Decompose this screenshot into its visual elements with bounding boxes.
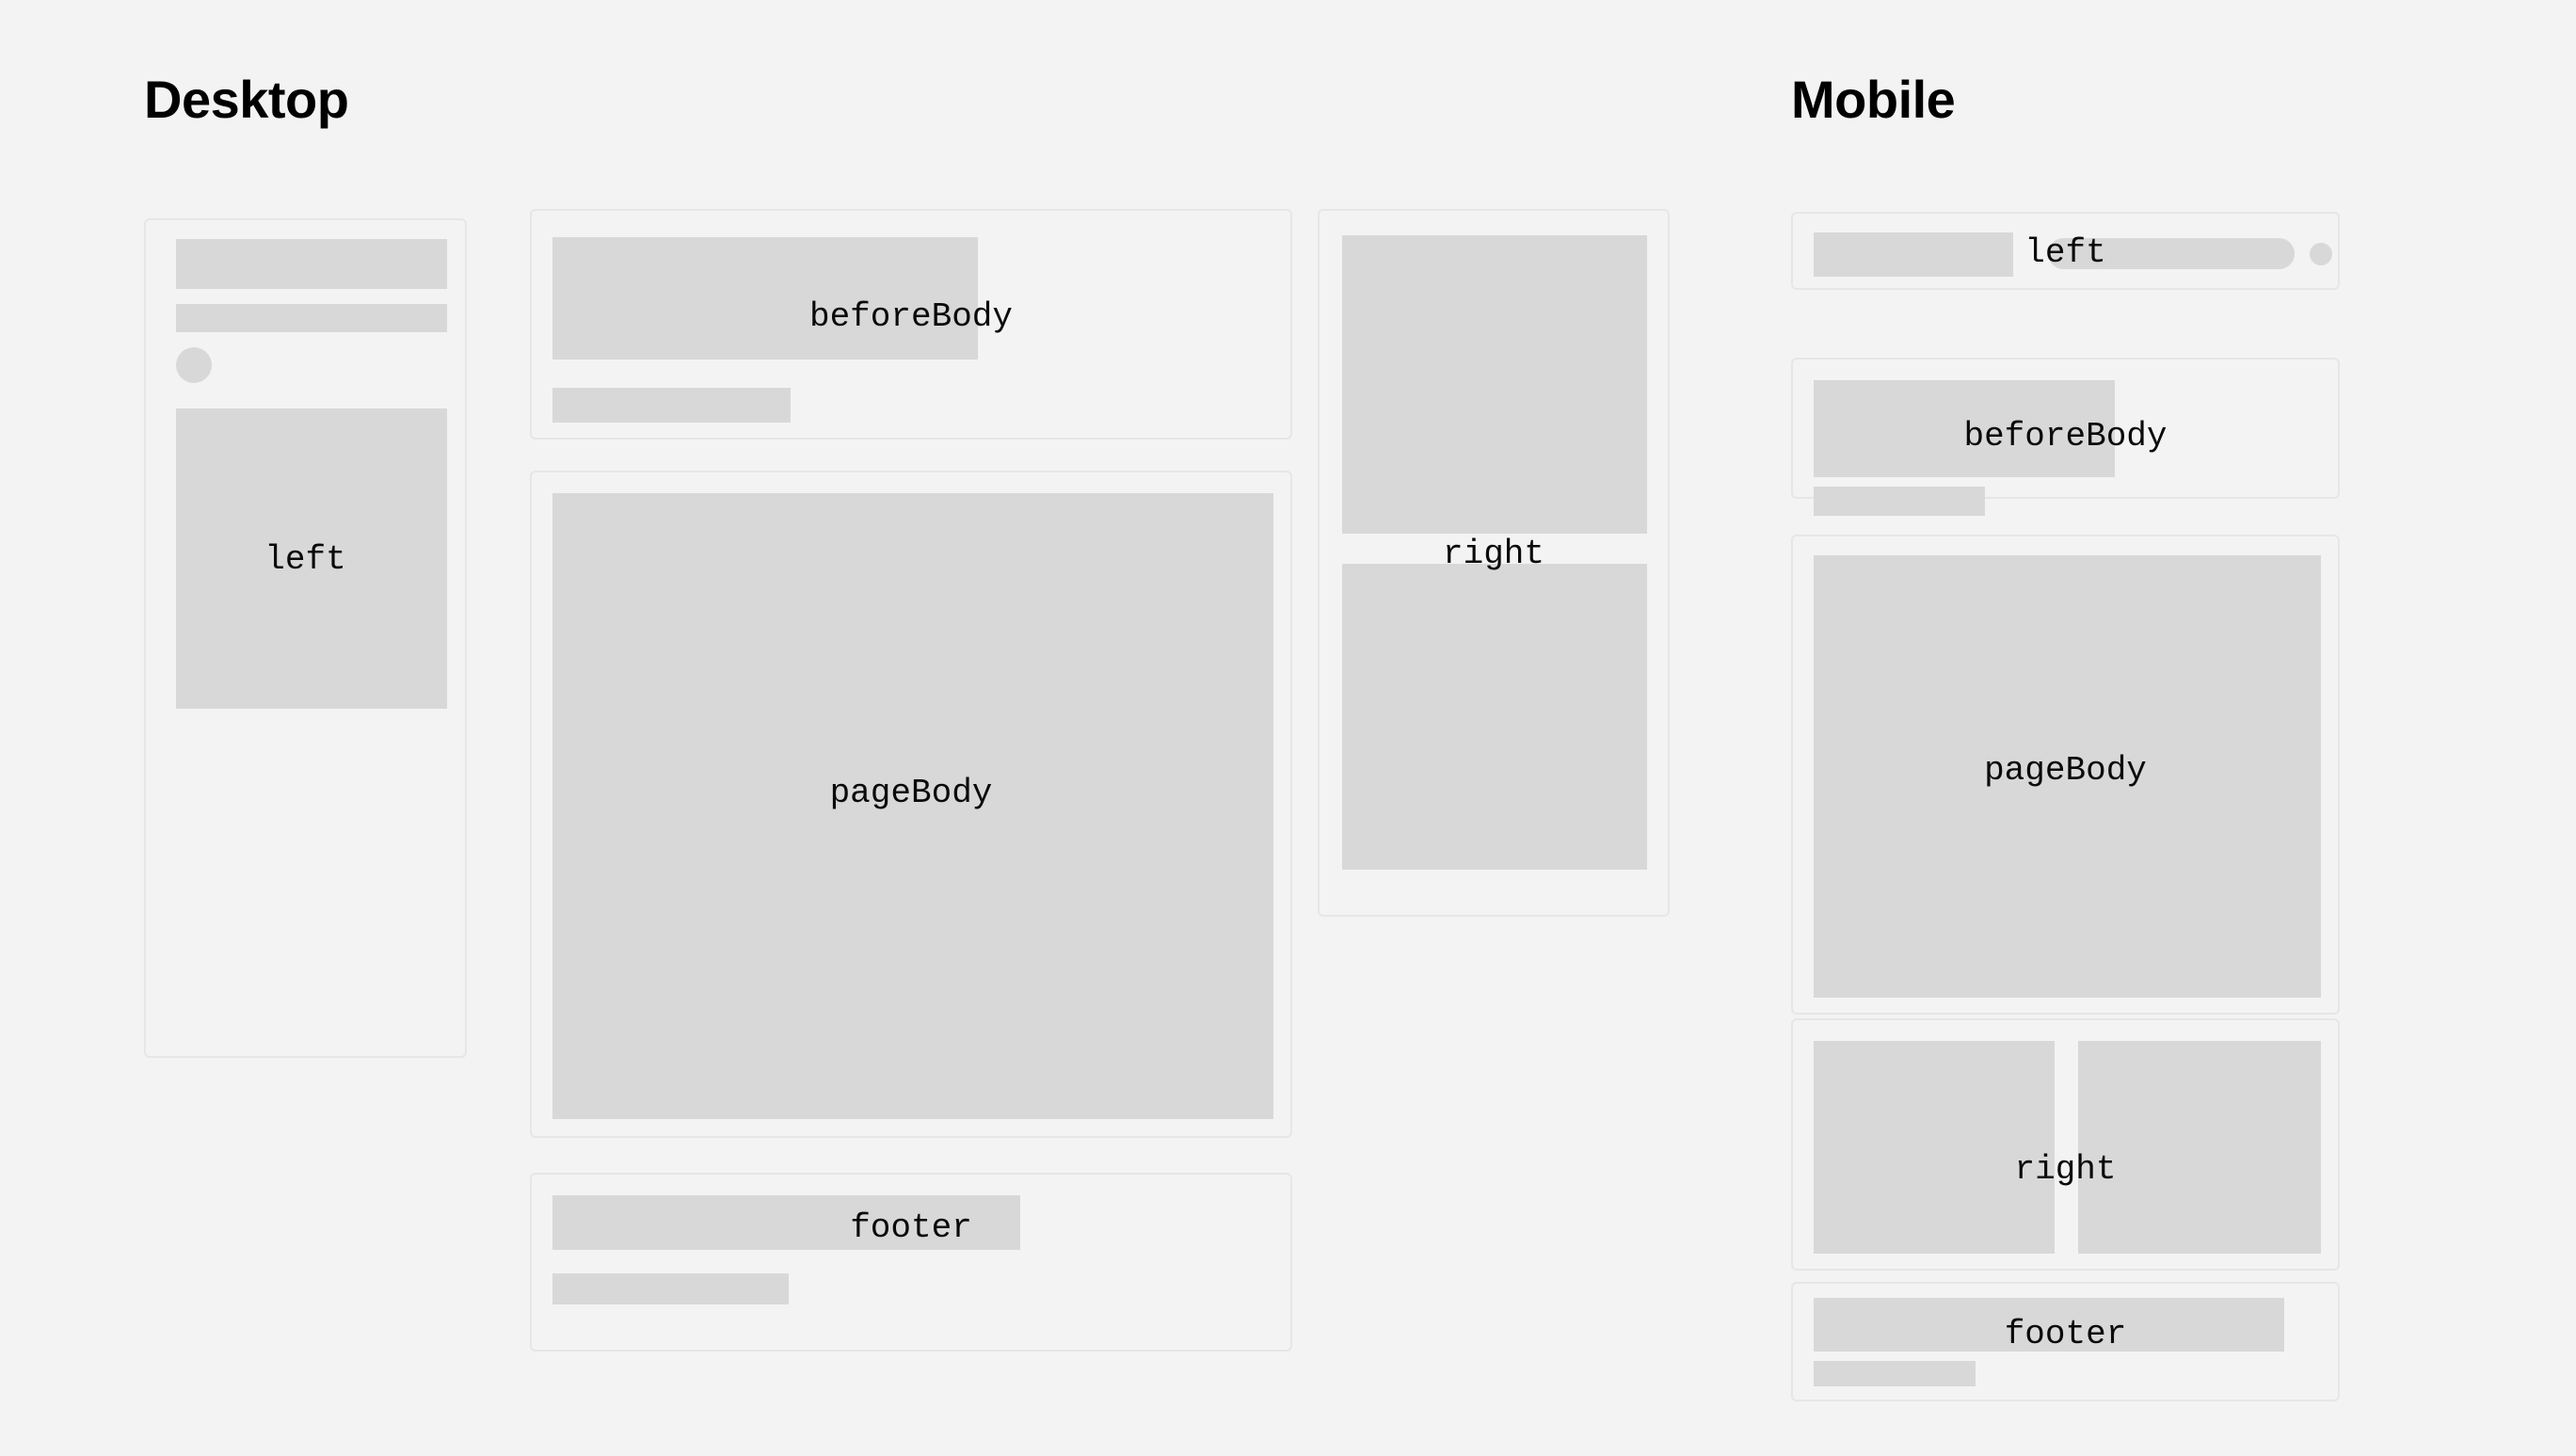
- placeholder-block: [1342, 564, 1647, 870]
- placeholder-block: [1814, 555, 2321, 998]
- desktop-right-panel[interactable]: [1318, 209, 1670, 917]
- desktop-before-body-panel[interactable]: [530, 209, 1292, 440]
- desktop-page-body-panel[interactable]: [530, 471, 1292, 1138]
- placeholder-block: [552, 1195, 1020, 1250]
- placeholder-block: [176, 304, 447, 332]
- placeholder-block: [552, 493, 1273, 1119]
- mobile-section-title: Mobile: [1791, 73, 1955, 126]
- placeholder-block: [1342, 235, 1647, 534]
- avatar-circle-placeholder: [2310, 243, 2332, 265]
- desktop-section-title: Desktop: [144, 73, 348, 126]
- placeholder-block: [552, 388, 791, 423]
- layout-skeleton-canvas: Desktop left beforeBody pageBody footer …: [0, 0, 2576, 1456]
- placeholder-block: [1814, 1298, 2284, 1352]
- desktop-left-panel[interactable]: [144, 218, 467, 1058]
- mobile-page-body-panel[interactable]: [1791, 535, 2340, 1015]
- mobile-left-panel[interactable]: [1791, 212, 2340, 290]
- mobile-footer-panel[interactable]: [1791, 1282, 2340, 1401]
- placeholder-block: [1814, 487, 1985, 516]
- mobile-before-body-panel[interactable]: [1791, 358, 2340, 499]
- placeholder-block: [1814, 1361, 1976, 1386]
- placeholder-block: [176, 408, 447, 709]
- avatar-circle-placeholder: [176, 347, 212, 383]
- placeholder-block: [176, 239, 447, 289]
- placeholder-block: [1814, 1041, 2055, 1254]
- placeholder-block: [1814, 232, 2013, 277]
- placeholder-block: [552, 237, 978, 360]
- mobile-right-panel[interactable]: [1791, 1018, 2340, 1271]
- placeholder-block: [1814, 380, 2115, 477]
- desktop-footer-panel[interactable]: [530, 1173, 1292, 1352]
- placeholder-block: [552, 1273, 789, 1304]
- placeholder-block: [2078, 1041, 2321, 1254]
- placeholder-pill: [2048, 238, 2295, 269]
